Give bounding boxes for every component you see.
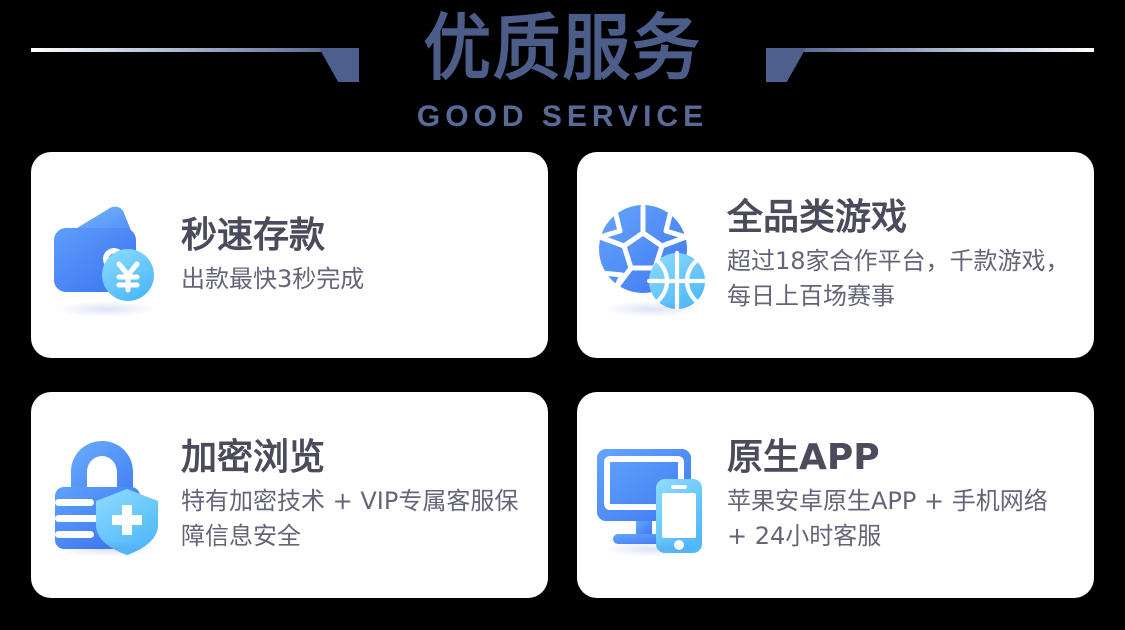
card-title: 全品类游戏 bbox=[727, 196, 1072, 240]
card-title: 原生APP bbox=[727, 436, 1072, 480]
page-title: 优质服务 bbox=[34, 6, 1092, 90]
icon-shadow bbox=[56, 541, 157, 557]
card-text-block: 全品类游戏 超过18家合作平台，千款游戏，每日上百场赛事 bbox=[727, 196, 1094, 314]
card-text-block: 加密浏览 特有加密技术 + VIP专属客服保障信息安全 bbox=[181, 436, 548, 554]
card-description: 超过18家合作平台，千款游戏，每日上百场赛事 bbox=[727, 244, 1072, 314]
card-text-block: 秒速存款 出款最快3秒完成 bbox=[181, 214, 548, 297]
feature-card-encryption[interactable]: 加密浏览 特有加密技术 + VIP专属客服保障信息安全 bbox=[31, 392, 548, 598]
feature-card-deposit[interactable]: 秒速存款 出款最快3秒完成 bbox=[31, 152, 548, 358]
soccer-basketball-icon bbox=[592, 195, 712, 315]
card-icon-slot bbox=[31, 392, 181, 598]
page-subtitle: GOOD SERVICE bbox=[0, 100, 1125, 134]
card-title: 加密浏览 bbox=[181, 436, 526, 480]
card-description: 出款最快3秒完成 bbox=[181, 262, 526, 297]
card-icon-slot bbox=[577, 152, 727, 358]
card-title: 秒速存款 bbox=[181, 214, 526, 258]
feature-card-games[interactable]: 全品类游戏 超过18家合作平台，千款游戏，每日上百场赛事 bbox=[577, 152, 1094, 358]
icon-shadow bbox=[56, 301, 157, 317]
feature-card-grid: 秒速存款 出款最快3秒完成 bbox=[31, 152, 1094, 598]
page-root: 优质服务 GOOD SERVICE bbox=[0, 0, 1125, 630]
card-description: 特有加密技术 + VIP专属客服保障信息安全 bbox=[181, 484, 526, 554]
icon-shadow bbox=[602, 541, 703, 557]
lock-shield-icon bbox=[46, 435, 166, 555]
card-description: 苹果安卓原生APP + 手机网络 + 24小时客服 bbox=[727, 484, 1072, 554]
feature-card-native-app[interactable]: 原生APP 苹果安卓原生APP + 手机网络 + 24小时客服 bbox=[577, 392, 1094, 598]
card-icon-slot bbox=[577, 392, 727, 598]
monitor-phone-icon bbox=[592, 435, 712, 555]
card-text-block: 原生APP 苹果安卓原生APP + 手机网络 + 24小时客服 bbox=[727, 436, 1094, 554]
card-icon-slot bbox=[31, 152, 181, 358]
page-header: 优质服务 GOOD SERVICE bbox=[0, 0, 1125, 145]
wallet-yen-icon bbox=[46, 195, 166, 315]
icon-shadow bbox=[602, 301, 703, 317]
